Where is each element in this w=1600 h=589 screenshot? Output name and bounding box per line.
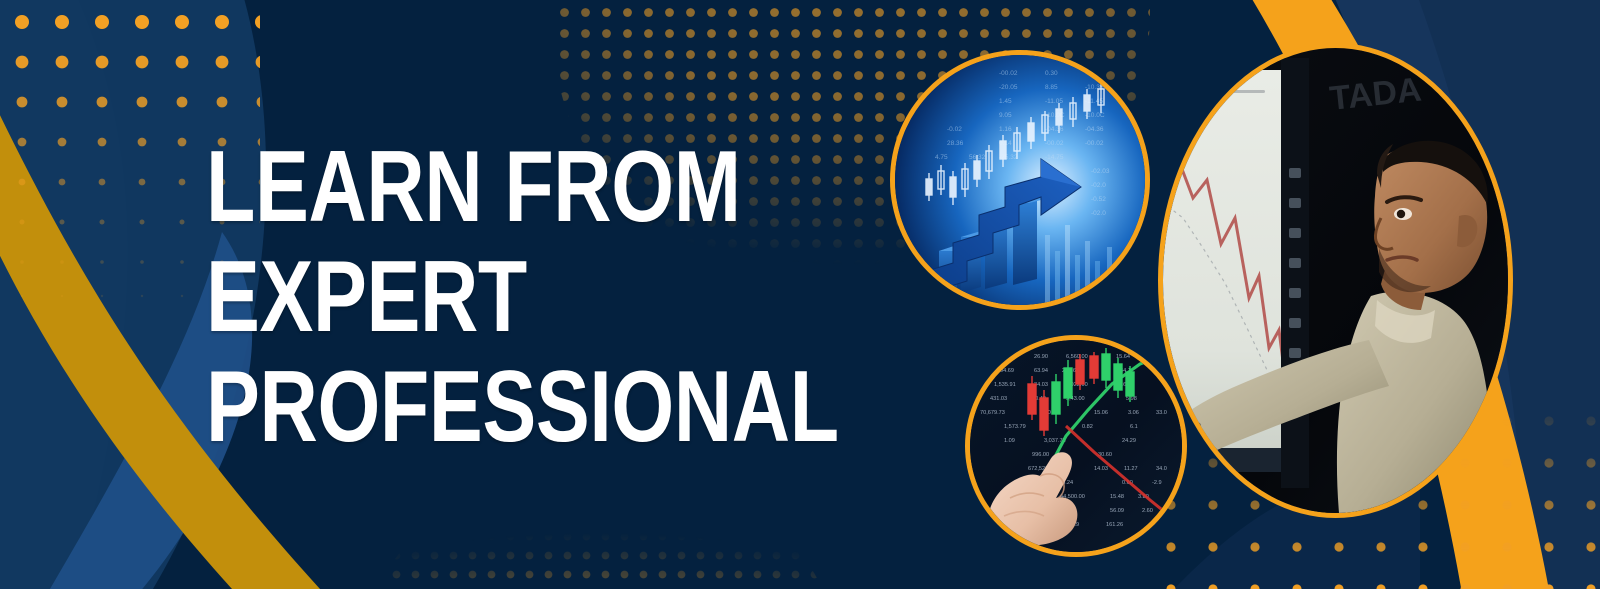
svg-text:34.0: 34.0 xyxy=(1156,466,1167,472)
svg-text:-00.02: -00.02 xyxy=(999,70,1018,77)
svg-text:26.90: 26.90 xyxy=(1034,354,1048,360)
svg-text:6,560.00: 6,560.00 xyxy=(1066,354,1088,360)
svg-text:-11.05: -11.05 xyxy=(1045,98,1063,105)
svg-text:1.09: 1.09 xyxy=(1004,438,1015,444)
svg-text:5.98: 5.98 xyxy=(1126,396,1137,402)
svg-text:14.03: 14.03 xyxy=(1094,466,1108,472)
svg-text:-2.9: -2.9 xyxy=(1152,480,1162,486)
dot-dome-bottom-center xyxy=(330,470,970,589)
svg-text:1,573.79: 1,573.79 xyxy=(1004,424,1026,430)
svg-text:9.05: 9.05 xyxy=(999,112,1012,119)
promo-banner: LEARN FROM EXPERT PROFESSIONAL xyxy=(0,0,1600,589)
svg-text:-14.75: -14.75 xyxy=(1045,154,1064,161)
svg-text:-20.05: -20.05 xyxy=(999,84,1018,91)
svg-text:-04.36: -04.36 xyxy=(1085,126,1104,133)
svg-text:996.00: 996.00 xyxy=(1032,452,1049,458)
svg-text:1.16: 1.16 xyxy=(999,126,1012,133)
svg-text:-0.52: -0.52 xyxy=(1091,196,1106,203)
candlestick-chart-hand-photo: 26.906,560.0015.64 94.6963.9427,160.434.… xyxy=(970,340,1182,552)
headline: LEARN FROM EXPERT PROFESSIONAL xyxy=(206,132,997,462)
svg-text:8.85: 8.85 xyxy=(1045,84,1058,91)
svg-text:-02.0: -02.0 xyxy=(1091,182,1106,189)
svg-text:6.1: 6.1 xyxy=(1130,424,1138,430)
svg-text:63.94: 63.94 xyxy=(1034,368,1048,374)
svg-text:15.06: 15.06 xyxy=(1094,410,1108,416)
svg-text:161.26: 161.26 xyxy=(1106,522,1123,528)
svg-text:56.09: 56.09 xyxy=(1110,508,1124,514)
svg-text:0.82: 0.82 xyxy=(1082,424,1093,430)
svg-text:0.30: 0.30 xyxy=(1045,70,1058,77)
svg-text:33.0: 33.0 xyxy=(1156,410,1167,416)
svg-text:-10.0C: -10.0C xyxy=(1085,112,1105,119)
svg-text:2.60: 2.60 xyxy=(1142,508,1153,514)
svg-text:-02.03: -02.03 xyxy=(1091,168,1110,175)
svg-text:1,535.91: 1,535.91 xyxy=(994,382,1016,388)
headline-line-3: PROFESSIONAL xyxy=(206,352,839,462)
svg-text:94.69: 94.69 xyxy=(1000,368,1014,374)
svg-text:1.45: 1.45 xyxy=(999,98,1012,105)
svg-text:11.27: 11.27 xyxy=(1124,466,1138,472)
svg-text:24.29: 24.29 xyxy=(1122,438,1136,444)
svg-text:15.48: 15.48 xyxy=(1110,494,1124,500)
svg-text:-00.02: -00.02 xyxy=(1045,140,1064,147)
svg-text:-00.02: -00.02 xyxy=(1085,140,1104,147)
headline-line-1: LEARN FROM xyxy=(206,132,839,242)
trader-at-screen-photo: TADA xyxy=(1163,48,1508,513)
svg-text:-02.0: -02.0 xyxy=(1091,210,1106,217)
svg-text:3.06: 3.06 xyxy=(1128,410,1139,416)
headline-line-2: EXPERT xyxy=(206,242,839,352)
